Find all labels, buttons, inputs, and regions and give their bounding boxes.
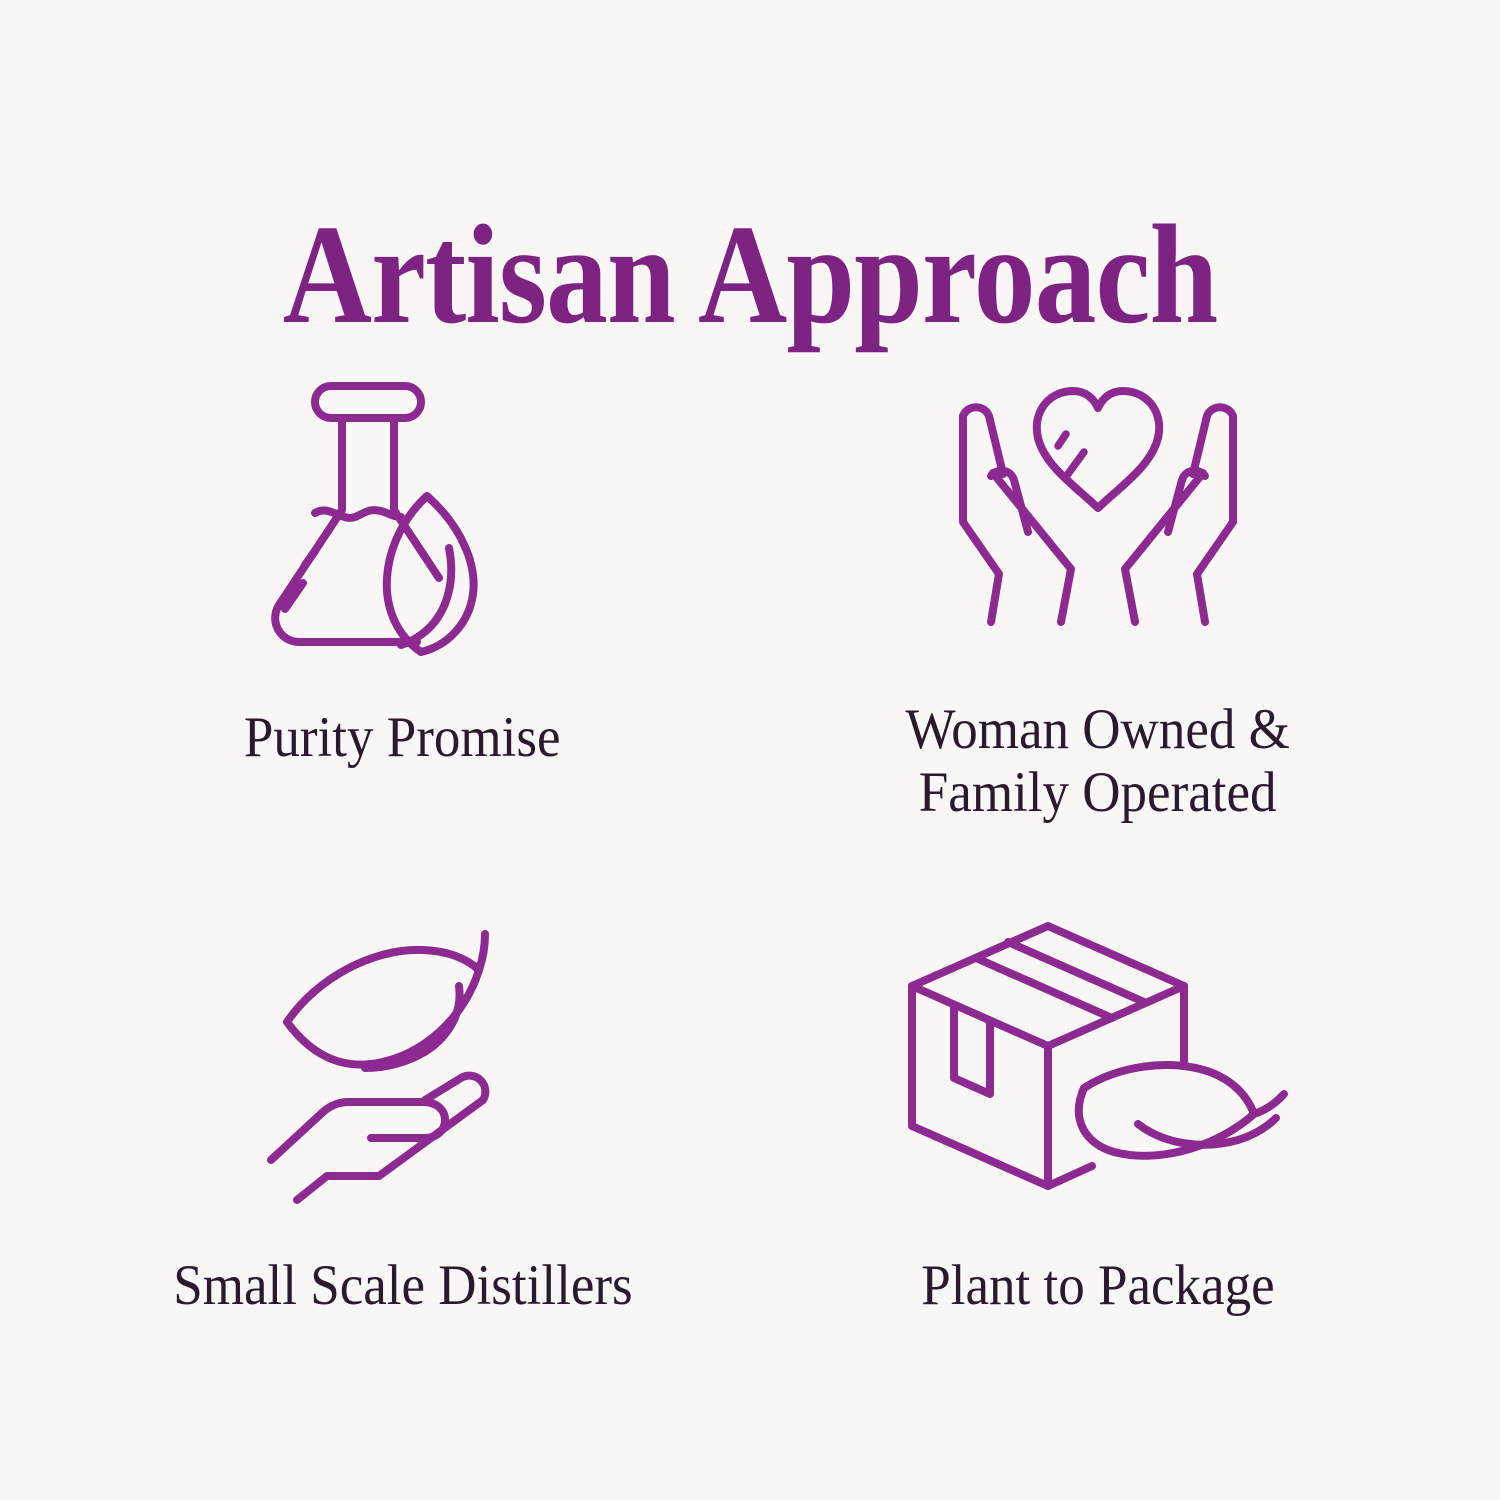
page-title: Artisan Approach bbox=[283, 203, 1218, 345]
flask-leaf-icon-box bbox=[253, 355, 553, 655]
feature-item-small-scale-distillers: Small Scale Distillers bbox=[70, 885, 735, 1415]
flask-leaf-icon bbox=[253, 355, 553, 655]
box-leaf-icon bbox=[898, 914, 1298, 1204]
feature-label-purity-promise: Purity Promise bbox=[244, 707, 561, 770]
hands-holding-heart-icon bbox=[933, 355, 1263, 655]
artisan-approach-panel: Artisan Approach bbox=[0, 0, 1500, 1500]
box-leaf-icon-box bbox=[898, 909, 1298, 1209]
feature-grid: Purity Promise bbox=[70, 355, 1430, 1415]
feature-item-woman-owned: Woman Owned & Family Operated bbox=[765, 355, 1430, 885]
hand-holding-leaf-icon bbox=[263, 914, 543, 1204]
feature-label-plant-to-package: Plant to Package bbox=[921, 1255, 1274, 1318]
feature-label-woman-owned: Woman Owned & Family Operated bbox=[905, 699, 1289, 824]
hands-holding-heart-icon-box bbox=[933, 355, 1263, 655]
feature-item-purity-promise: Purity Promise bbox=[70, 355, 735, 885]
feature-item-plant-to-package: Plant to Package bbox=[765, 885, 1430, 1415]
feature-label-small-scale-distillers: Small Scale Distillers bbox=[173, 1255, 632, 1318]
hand-holding-leaf-icon-box bbox=[263, 909, 543, 1209]
